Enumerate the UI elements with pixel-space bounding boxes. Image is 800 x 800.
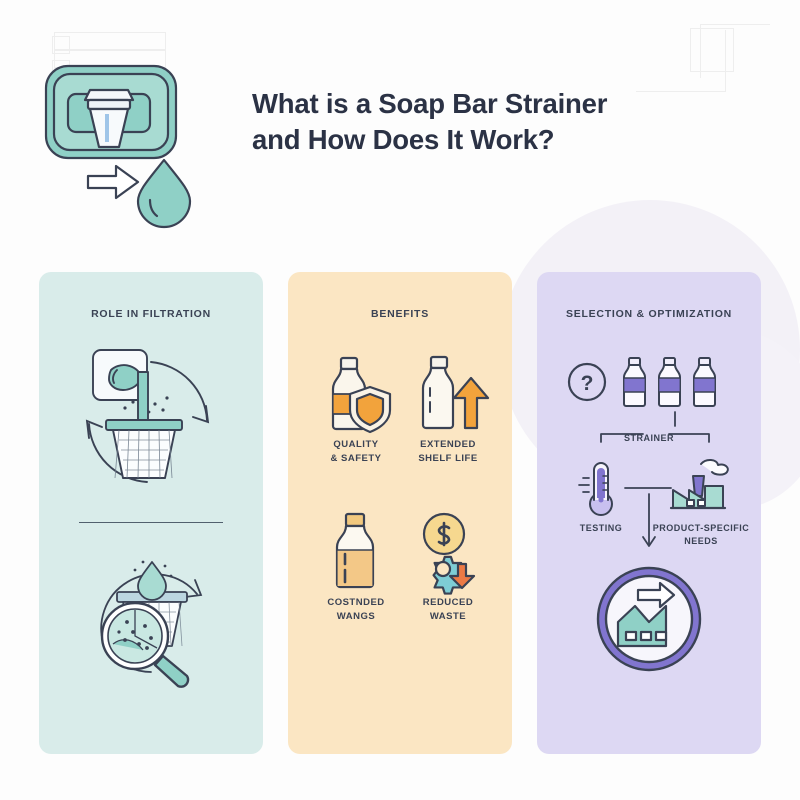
title-line-2: and How Does It Work? xyxy=(252,122,682,158)
benefit-label-line-2: WANGS xyxy=(306,610,406,624)
bottle-up-arrow-icon xyxy=(398,354,498,432)
column-heading-role-in-filtration: ROLE IN FILTRATION xyxy=(39,308,263,320)
infographic-page: What is a Soap Bar Strainer and How Does… xyxy=(0,0,800,800)
title-line-1: What is a Soap Bar Strainer xyxy=(252,86,682,122)
column-benefits[interactable]: BENEFITS Q xyxy=(288,272,512,754)
flow-branch-label-product-needs: PRODUCT-SPECIFIC NEEDS xyxy=(649,522,753,548)
column-divider xyxy=(79,522,223,523)
thermometer-icon xyxy=(569,460,629,520)
column-heading-selection-optimization: SELECTION & OPTIMIZATION xyxy=(537,308,761,320)
benefit-item-reduced-waste[interactable]: REDUCED WASTE xyxy=(398,512,498,624)
bottle-shield-icon xyxy=(306,354,406,432)
benefit-label-line-2: & SAFETY xyxy=(306,452,406,466)
flow-branch-label-line-1: PRODUCT-SPECIFIC xyxy=(649,522,753,535)
flow-branch-label-line-2: NEEDS xyxy=(649,535,753,548)
deco-corner-square xyxy=(690,28,734,72)
column-role-in-filtration[interactable]: ROLE IN FILTRATION xyxy=(39,272,263,754)
benefit-label: COSTNDED WANGS xyxy=(306,596,406,624)
flow-node-label-strainer: STRAINER xyxy=(599,432,699,445)
deco-corner-bracket-b xyxy=(700,24,770,78)
benefit-label-line-1: EXTENDED xyxy=(398,438,498,452)
three-bottles-icon xyxy=(619,356,729,412)
benefit-label-line-2: SHELF LIFE xyxy=(398,452,498,466)
benefit-label-line-1: QUALITY xyxy=(306,438,406,452)
factory-growth-badge-icon xyxy=(594,564,704,674)
magnifier-strainer-inspection-icon xyxy=(69,544,237,684)
benefit-label-line-1: COSTNDED xyxy=(306,596,406,610)
benefit-label: EXTENDED SHELF LIFE xyxy=(398,438,498,466)
flow-arrow-down xyxy=(637,494,661,556)
benefit-label: REDUCED WASTE xyxy=(398,596,498,624)
benefit-label: QUALITY & SAFETY xyxy=(306,438,406,466)
factory-smokestack-icon xyxy=(667,458,737,520)
question-mark-circle-icon: ? xyxy=(565,360,609,404)
strainer-basket-pouring-icon xyxy=(67,340,237,505)
deco-square-a xyxy=(52,36,70,54)
columns-container: ROLE IN FILTRATION xyxy=(0,272,800,762)
deco-bar-a xyxy=(54,32,166,50)
benefit-item-quality-safety[interactable]: QUALITY & SAFETY xyxy=(306,354,406,466)
svg-text:?: ? xyxy=(581,372,594,395)
column-heading-benefits: BENEFITS xyxy=(288,308,512,320)
flow-connector-horizontal xyxy=(625,486,673,490)
deco-corner-bracket-a xyxy=(636,30,726,92)
benefit-item-costnded-wangs[interactable]: COSTNDED WANGS xyxy=(306,512,406,624)
page-title: What is a Soap Bar Strainer and How Does… xyxy=(252,86,682,159)
coin-gear-down-arrow-icon xyxy=(398,512,498,590)
benefit-label-line-2: WASTE xyxy=(398,610,498,624)
benefit-label-line-1: REDUCED xyxy=(398,596,498,610)
benefit-item-extended-shelf-life[interactable]: EXTENDED SHELF LIFE xyxy=(398,354,498,466)
column-selection-optimization[interactable]: SELECTION & OPTIMIZATION ? xyxy=(537,272,761,754)
strainer-filter-droplet-logo xyxy=(40,60,200,225)
flow-branch-label-testing: TESTING xyxy=(557,522,645,535)
filled-bottle-icon xyxy=(306,512,406,590)
